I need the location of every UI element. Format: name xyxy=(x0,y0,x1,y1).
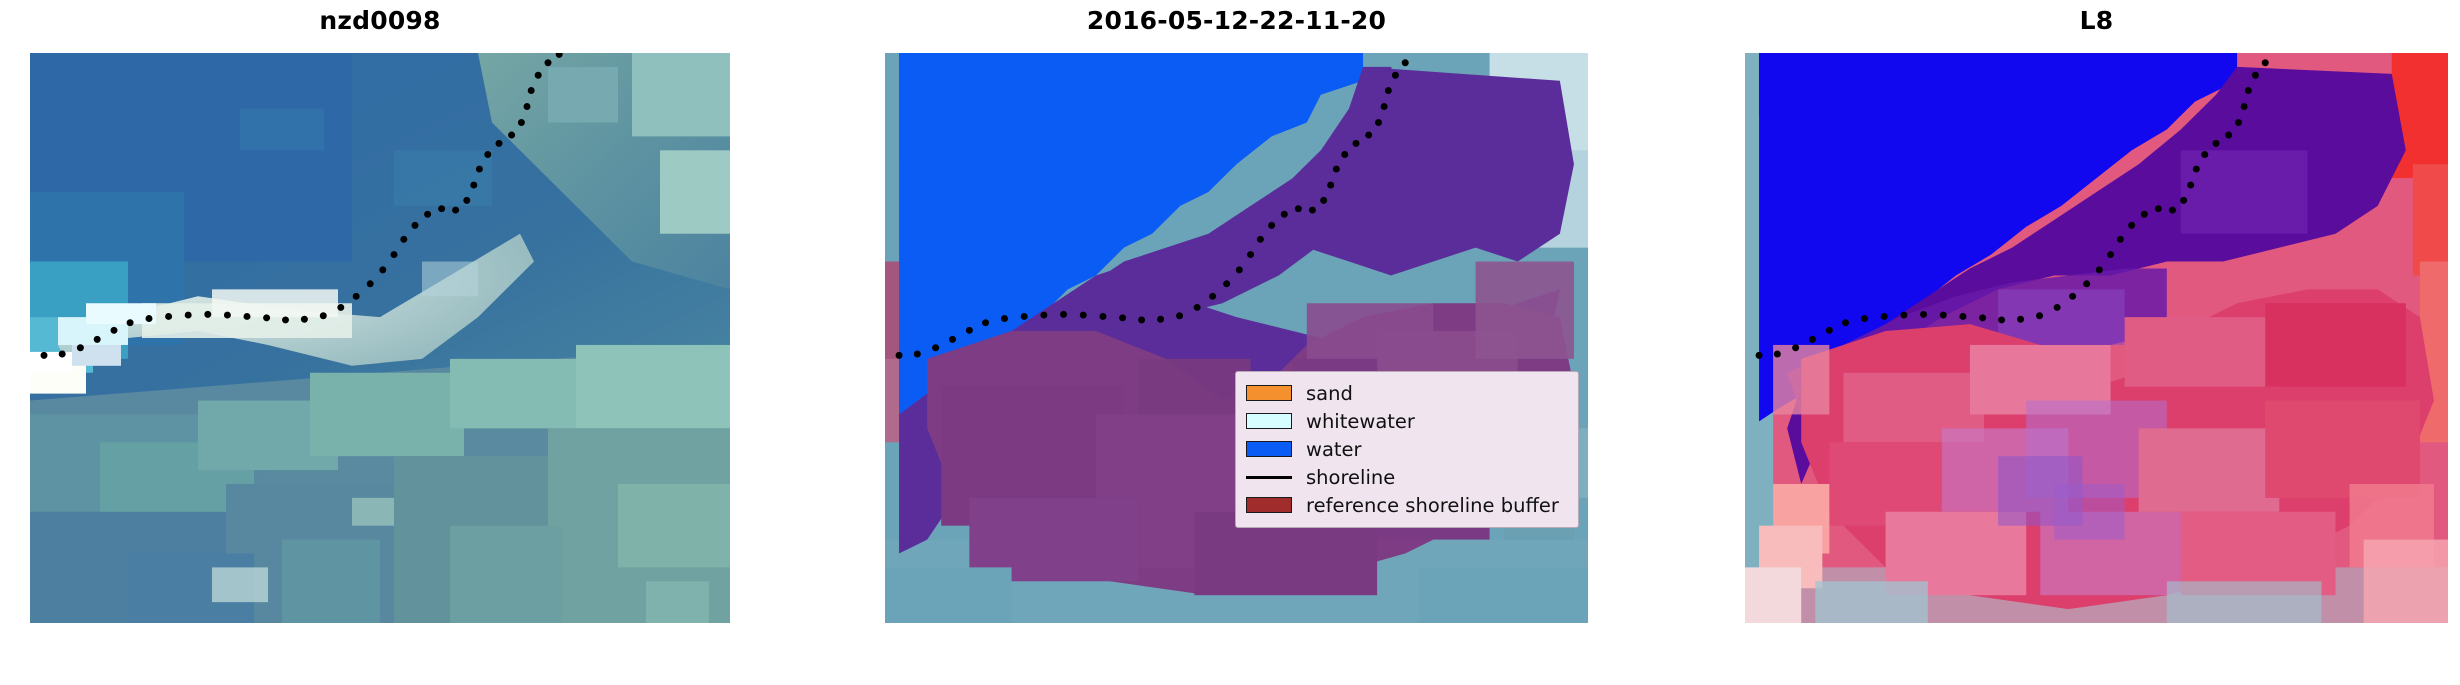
water-swatch xyxy=(1246,441,1292,457)
panel-title-3: L8 xyxy=(1745,6,2448,36)
panel-title-1: nzd0098 xyxy=(30,6,730,36)
index-composite-raster xyxy=(1745,53,2448,623)
panel-classification[interactable] xyxy=(885,53,1588,623)
legend-entry-reference-shoreline-buffer[interactable]: reference shoreline buffer xyxy=(1246,491,1568,519)
legend-entry-water[interactable]: water xyxy=(1246,435,1568,463)
legend-label-sand: sand xyxy=(1306,382,1353,405)
legend-box[interactable]: sand whitewater water shoreline referenc… xyxy=(1235,371,1579,528)
legend-label-water: water xyxy=(1306,438,1362,461)
legend-entry-whitewater[interactable]: whitewater xyxy=(1246,407,1568,435)
panel-title-2: 2016-05-12-22-11-20 xyxy=(885,6,1588,36)
legend-label-whitewater: whitewater xyxy=(1306,410,1415,433)
panel-index-composite[interactable] xyxy=(1745,53,2448,623)
legend-label-shoreline: shoreline xyxy=(1306,466,1395,489)
shoreline-line-icon xyxy=(1246,469,1292,485)
panel-rgb-imagery[interactable] xyxy=(30,53,730,623)
reference-shoreline-buffer-swatch xyxy=(1246,497,1292,513)
sand-swatch xyxy=(1246,385,1292,401)
legend-label-reference-shoreline-buffer: reference shoreline buffer xyxy=(1306,494,1559,517)
figure-canvas: nzd0098 xyxy=(0,0,2460,685)
legend-entry-shoreline[interactable]: shoreline xyxy=(1246,463,1568,491)
rgb-imagery-raster xyxy=(30,53,730,623)
whitewater-swatch xyxy=(1246,413,1292,429)
classification-raster xyxy=(885,53,1588,623)
legend-entry-sand[interactable]: sand xyxy=(1246,379,1568,407)
